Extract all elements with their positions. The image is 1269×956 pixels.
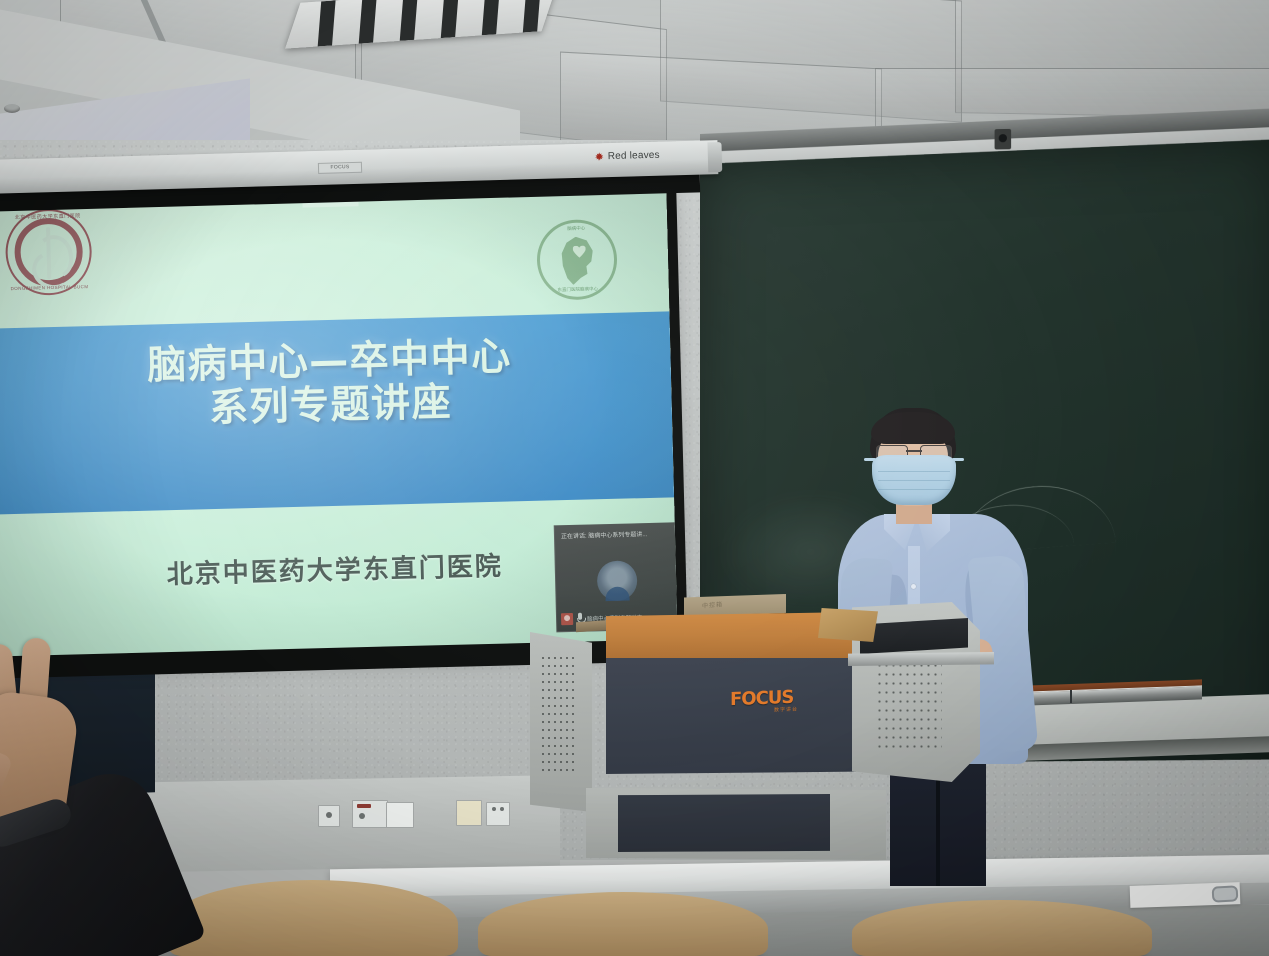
brain-emblem-bottom-text: 东直门医院脑病中心 <box>538 286 618 294</box>
wall-switch-1[interactable] <box>456 800 482 826</box>
lectern-brand-sublabel: 数字讲台 <box>774 706 798 714</box>
wall-mounted-camera-icon <box>995 129 1012 150</box>
face-mask <box>872 455 956 505</box>
slide-title-band: 脑病中心—卒中中心 系列专题讲座 <box>0 311 674 514</box>
projection-screen: HDMI-1 北京中医药大学东直门医院 DONGZHIMEN HOSPITAL … <box>0 181 678 660</box>
foreground-raised-hand <box>0 640 210 956</box>
participant-avatar <box>596 560 637 601</box>
kraft-folder[interactable] <box>818 608 878 642</box>
university-emblem-bottom-text: DONGZHIMEN HOSPITAL BUCM <box>6 284 92 291</box>
lectern-worktop <box>606 612 856 664</box>
maple-leaf-icon <box>595 152 604 161</box>
university-emblem-icon: 北京中医药大学东直门医院 DONGZHIMEN HOSPITAL BUCM <box>5 208 93 296</box>
wall-outlet-3[interactable] <box>386 802 414 828</box>
lectern: 中控箱 FOCUS 数字讲台 <box>530 600 1000 870</box>
smoke-detector-icon <box>4 104 20 113</box>
meeting-speaking-label: 正在讲话: 脑病中心系列专题讲... <box>561 528 672 540</box>
auditorium-chair[interactable] <box>168 880 458 956</box>
screen-brand: Red leaves <box>595 150 660 163</box>
brain-center-emblem-icon: 脑病中心 东直门医院脑病中心 <box>536 219 618 301</box>
lectern-left-speaker-panel <box>530 632 592 812</box>
housing-model-label: FOCUS <box>318 162 362 174</box>
wall-outlet-2[interactable] <box>352 800 388 828</box>
speaker-grille-icon <box>540 654 578 774</box>
control-box[interactable] <box>684 594 786 616</box>
screen-brand-label: Red leaves <box>608 150 660 162</box>
wall-outlet-4[interactable] <box>486 802 510 826</box>
binder-clip-icon[interactable] <box>1212 885 1239 902</box>
lecture-hall-photo: FOCUS Red leaves HDMI-1 北京中医药大学东直门医院 DON… <box>0 0 1269 956</box>
auditorium-chair[interactable] <box>478 892 768 956</box>
control-box-label: 中控箱 <box>702 599 723 610</box>
auditorium-chair[interactable] <box>852 900 1152 956</box>
wall-outlet-1[interactable] <box>318 805 340 827</box>
laptop-base[interactable] <box>848 652 994 666</box>
lectern-front-panel <box>606 658 856 774</box>
